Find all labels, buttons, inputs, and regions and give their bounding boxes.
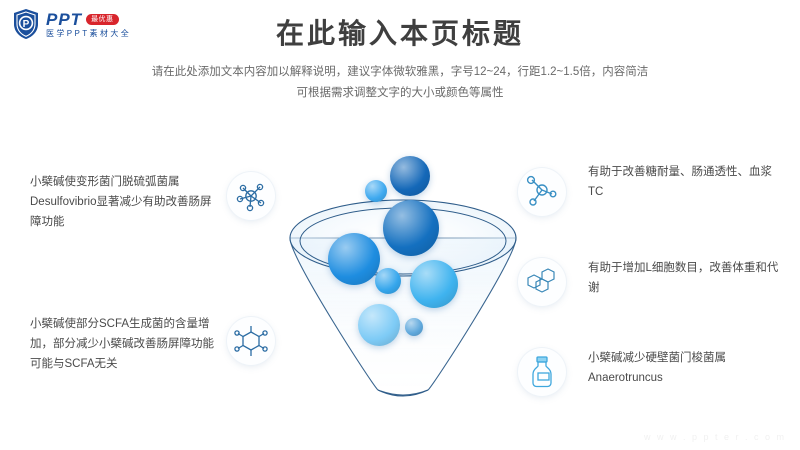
left-item-text-2: 小檗碱使部分SCFA生成菌的含量增加，部分减少小檗碱改善肠屏障功能可能与SCFA…: [30, 314, 220, 374]
page-subtitle-line-1: 请在此处添加文本内容加以解释说明，建议字体微软雅黑，字号12~24，行距1.2~…: [80, 62, 720, 83]
benzene-ring-icon[interactable]: [227, 317, 275, 365]
page-subtitle-line-2: 可根据需求调整文字的大小或颜色等属性: [80, 83, 720, 104]
fused-rings-icon[interactable]: [518, 258, 566, 306]
right-item-text-2: 有助于增加L细胞数目，改善体重和代谢: [588, 258, 780, 298]
page-subtitle: 请在此处添加文本内容加以解释说明，建议字体微软雅黑，字号12~24，行距1.2~…: [80, 62, 720, 105]
bubble-dark-large: [383, 200, 439, 256]
bubble-light-small: [365, 180, 387, 202]
bubble-pale-bottom: [358, 304, 400, 346]
bubble-dark-top: [390, 156, 430, 196]
bubble-mid-left: [328, 233, 380, 285]
molecule-three-node-icon[interactable]: [518, 168, 566, 216]
watermark: w w w . p p t e r . c o m: [644, 432, 786, 442]
right-item-text-1: 有助于改善糖耐量、肠通透性、血浆TC: [588, 162, 780, 202]
molecule-network-icon[interactable]: [227, 172, 275, 220]
page-title: 在此输入本页标题: [0, 12, 800, 52]
bubble-tiny-bottom: [405, 318, 423, 336]
right-item-text-3: 小檗碱减少硬壁菌门梭菌属Anaerotruncus: [588, 348, 780, 388]
bubble-cyan-right: [410, 260, 458, 308]
bubble-small-mid: [375, 268, 401, 294]
left-item-text-1: 小檗碱使变形菌门脱硫弧菌属Desulfovibrio显著减少有助改善肠屏障功能: [30, 172, 220, 232]
funnel-diagram: [278, 138, 528, 428]
medicine-bottle-icon[interactable]: [518, 348, 566, 396]
